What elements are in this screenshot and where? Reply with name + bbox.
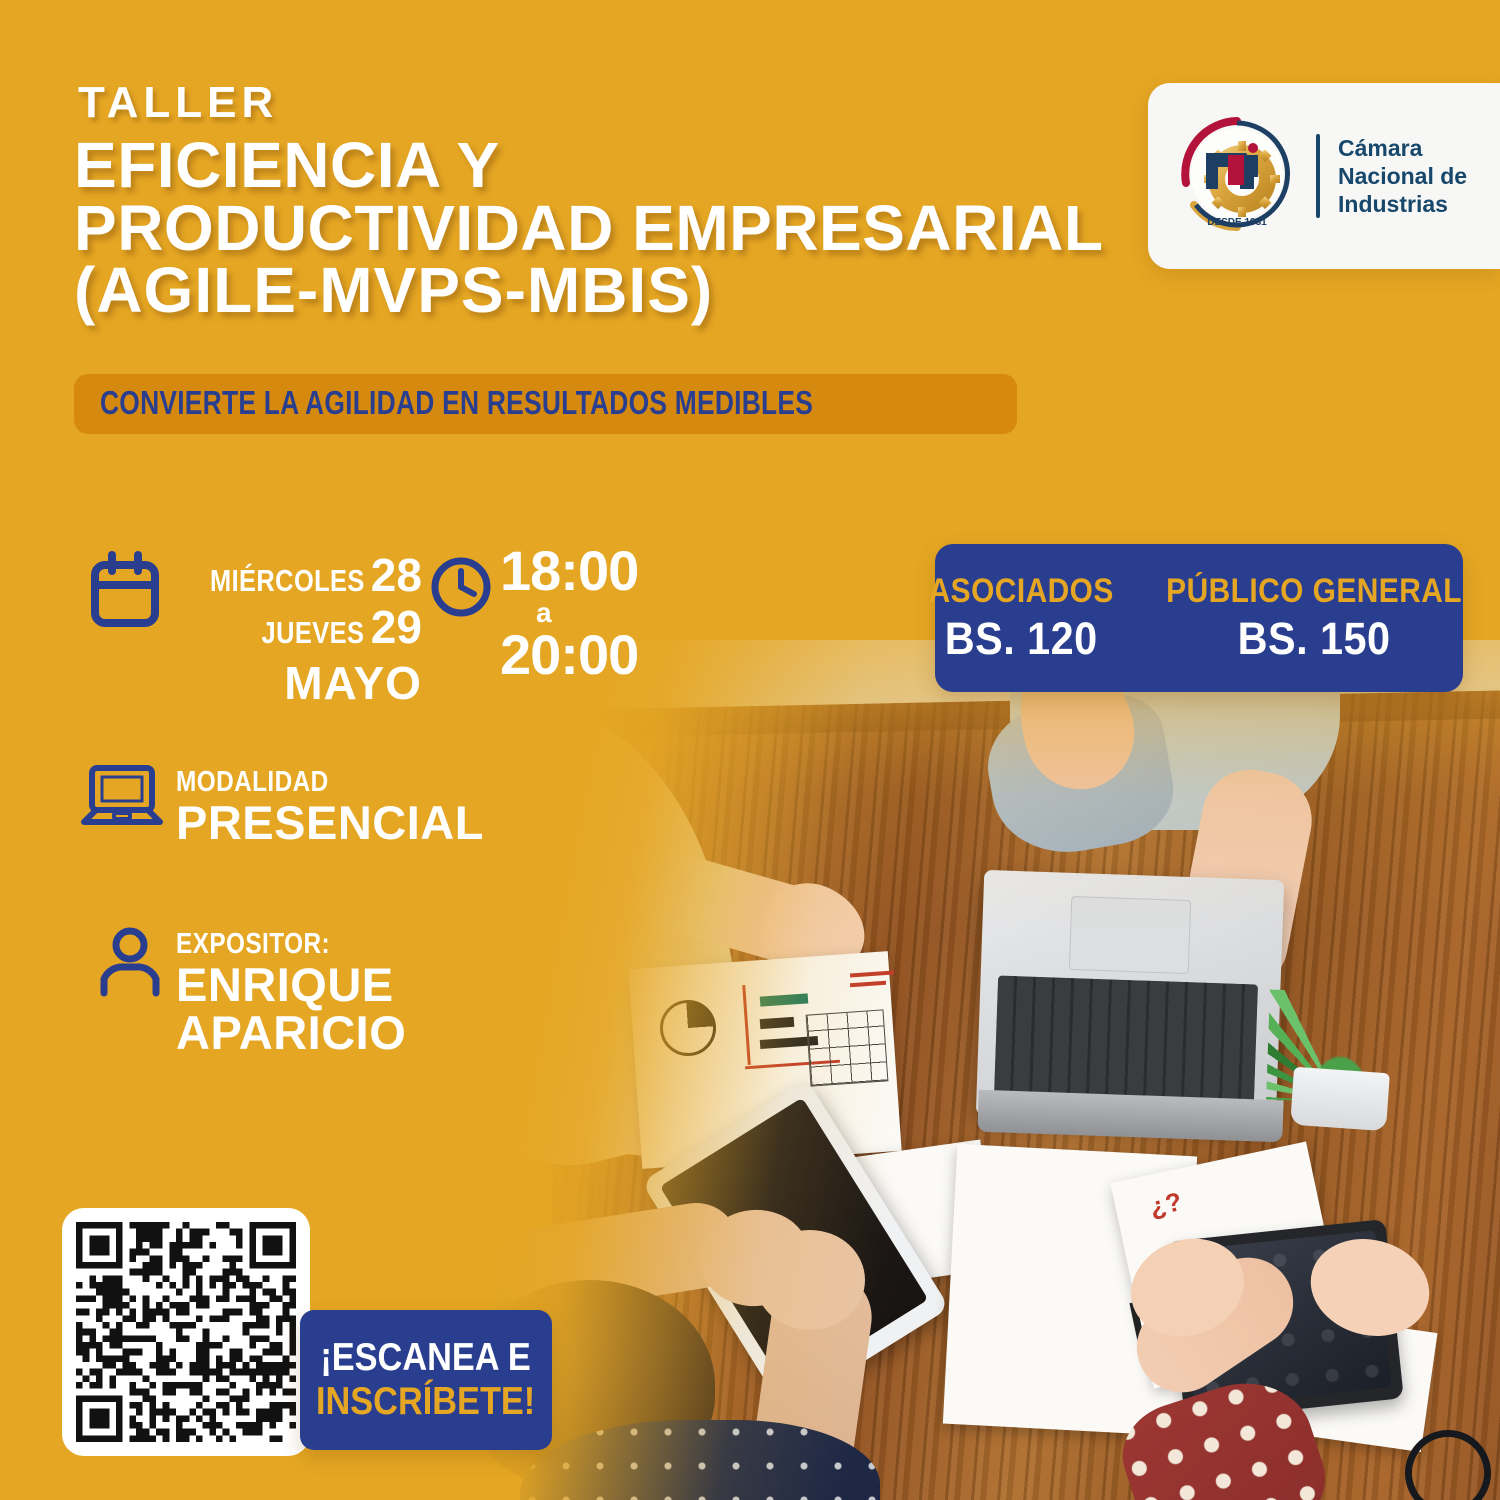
laptop-keyboard bbox=[994, 975, 1258, 1104]
brand-name-line-2: Nacional de bbox=[1338, 162, 1467, 190]
cni-emblem: DESDE 1931 bbox=[1176, 113, 1298, 240]
grid-sketch bbox=[806, 1009, 889, 1086]
logo-divider bbox=[1316, 134, 1320, 218]
pricing-associates: ASOCIADOS BS. 120 bbox=[906, 572, 1136, 665]
qr-code-icon[interactable] bbox=[76, 1222, 296, 1442]
brand-name-line-1: Cámara bbox=[1338, 134, 1467, 162]
plant-pot bbox=[1290, 1067, 1390, 1132]
cni-logo-icon: DESDE 1931 bbox=[1176, 113, 1298, 235]
cta-line-1: ¡ESCANEA E bbox=[321, 1336, 531, 1380]
pricing-general-label: PÚBLICO GENERAL bbox=[1166, 572, 1462, 611]
speaker-label: EXPOSITOR: bbox=[176, 928, 369, 961]
date-month: MAYO bbox=[176, 656, 422, 710]
date-block: MIÉRCOLES28 JUEVES29 MAYO bbox=[176, 552, 422, 710]
title-line-1: EFICIENCIA Y bbox=[74, 134, 1134, 197]
date-line-1: MIÉRCOLES28 bbox=[176, 552, 422, 598]
speaker-name-line-2: APARICIO bbox=[176, 1009, 406, 1057]
pricing-box: ASOCIADOS BS. 120 PÚBLICO GENERAL BS. 15… bbox=[935, 544, 1463, 692]
laptop-trackpad bbox=[1069, 896, 1192, 974]
modality-value: PRESENCIAL bbox=[176, 799, 484, 847]
qr-code-card[interactable] bbox=[62, 1208, 310, 1456]
subtitle-banner: CONVIERTE LA AGILIDAD EN RESULTADOS MEDI… bbox=[74, 374, 1017, 434]
date-weekday-1: MIÉRCOLES bbox=[210, 565, 365, 596]
pricing-general-amount: BS. 150 bbox=[1160, 613, 1469, 665]
pricing-associates-label: ASOCIADOS bbox=[928, 572, 1113, 611]
pricing-general: PÚBLICO GENERAL BS. 150 bbox=[1136, 572, 1492, 665]
scan-register-button[interactable]: ¡ESCANEA E INSCRÍBETE! bbox=[300, 1310, 552, 1450]
brand-logo-card: DESDE 1931 Cámara Nacional de Industrias bbox=[1148, 83, 1500, 269]
calendar-icon bbox=[88, 551, 162, 636]
date-line-2: JUEVES29 bbox=[176, 604, 422, 650]
laptop-icon bbox=[80, 762, 164, 837]
title-line-3: (AGILE-MVPS-MBIS) bbox=[74, 259, 1134, 322]
page-title: EFICIENCIA Y PRODUCTIVIDAD EMPRESARIAL (… bbox=[74, 134, 1134, 322]
logo-since-text: DESDE 1931 bbox=[1207, 217, 1267, 228]
person-bottom-hand-right bbox=[755, 1230, 865, 1330]
modality-label: MODALIDAD bbox=[176, 766, 435, 799]
pricing-associates-amount: BS. 120 bbox=[924, 613, 1118, 665]
modality-block: MODALIDAD PRESENCIAL bbox=[176, 766, 484, 847]
time-block: 18:00 a 20:00 bbox=[500, 545, 638, 680]
photo-composition: ¿? bbox=[430, 640, 1500, 1500]
subtitle-text: CONVIERTE LA AGILIDAD EN RESULTADOS MEDI… bbox=[100, 384, 813, 422]
cta-line-2: INSCRÍBETE! bbox=[316, 1380, 535, 1424]
time-end: 20:00 bbox=[500, 629, 638, 681]
date-day-1: 28 bbox=[371, 549, 422, 601]
speaker-name-line-1: ENRIQUE bbox=[176, 961, 406, 1009]
brand-name: Cámara Nacional de Industrias bbox=[1338, 134, 1467, 218]
title-line-2: PRODUCTIVIDAD EMPRESARIAL bbox=[74, 197, 1134, 260]
meeting-photo: ¿? bbox=[430, 640, 1500, 1500]
person-icon bbox=[95, 925, 165, 1006]
speaker-block: EXPOSITOR: ENRIQUE APARICIO bbox=[176, 928, 406, 1057]
brand-name-line-3: Industrias bbox=[1338, 190, 1467, 218]
kicker-label: TALLER bbox=[78, 78, 278, 128]
date-day-2: 29 bbox=[371, 601, 422, 653]
date-weekday-2: JUEVES bbox=[262, 617, 365, 648]
time-start: 18:00 bbox=[500, 545, 638, 597]
clock-icon bbox=[430, 556, 492, 623]
